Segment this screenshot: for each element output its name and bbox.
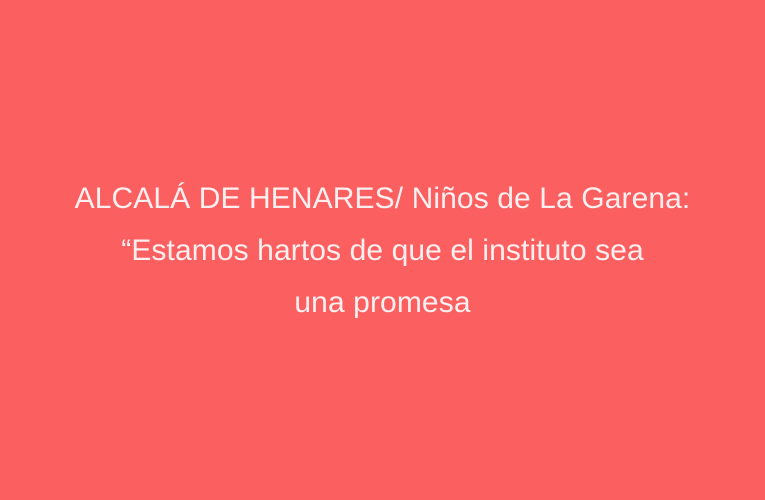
headline-line-1: ALCALÁ DE HENARES/ Niños de La Garena:	[41, 173, 725, 225]
page-title: ALCALÁ DE HENARES/ Niños de La Garena: “…	[33, 173, 733, 329]
headline-line-2: “Estamos hartos de que el instituto sea	[41, 225, 725, 277]
headline-line-3: una promesa	[41, 277, 725, 329]
headline-card: ALCALÁ DE HENARES/ Niños de La Garena: “…	[0, 0, 765, 500]
